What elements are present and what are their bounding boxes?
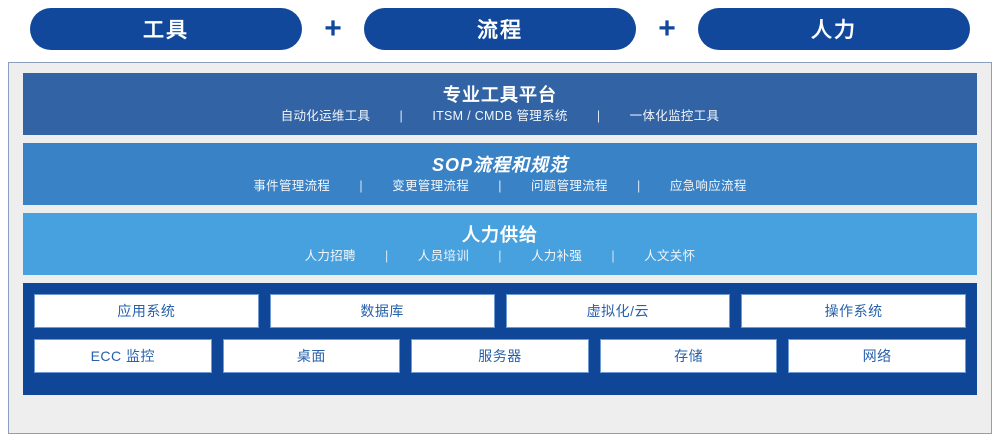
diagram-frame: 专业工具平台 自动化运维工具 | ITSM / CMDB 管理系统 | 一体化监… <box>8 62 992 434</box>
layer-item: 人力招聘 <box>305 249 356 264</box>
layer-item: 一体化监控工具 <box>630 109 720 124</box>
layer-item: 自动化运维工具 <box>281 109 371 124</box>
layer-title-manpower: 人力供给 <box>462 224 538 247</box>
item-separator: | <box>356 249 418 264</box>
chip-ecc-monitoring[interactable]: ECC 监控 <box>34 339 212 373</box>
pill-tools[interactable]: 工具 <box>30 8 302 50</box>
layer-item: 问题管理流程 <box>531 179 608 194</box>
layer-title-tools: 专业工具平台 <box>443 84 557 107</box>
item-separator: | <box>370 109 432 124</box>
item-separator: | <box>568 109 630 124</box>
layer-items-sop: 事件管理流程 | 变更管理流程 | 问题管理流程 | 应急响应流程 <box>253 179 746 194</box>
chip-network[interactable]: 网络 <box>788 339 966 373</box>
chip-database[interactable]: 数据库 <box>270 294 495 328</box>
top-pill-row: 工具 + 流程 + 人力 <box>0 0 1000 58</box>
pill-process[interactable]: 流程 <box>364 8 636 50</box>
item-separator: | <box>330 179 392 194</box>
layer-item: ITSM / CMDB 管理系统 <box>432 109 567 124</box>
chip-virtualization-cloud[interactable]: 虚拟化/云 <box>506 294 731 328</box>
layer-band-manpower: 人力供给 人力招聘 | 人员培训 | 人力补强 | 人文关怀 <box>23 213 977 275</box>
chip-server[interactable]: 服务器 <box>411 339 589 373</box>
chip-storage[interactable]: 存储 <box>600 339 778 373</box>
infrastructure-row-1: 应用系统 数据库 虚拟化/云 操作系统 <box>34 294 966 328</box>
layer-title-sop: SOP流程和规范 <box>432 154 568 177</box>
chip-application-system[interactable]: 应用系统 <box>34 294 259 328</box>
chip-desktop[interactable]: 桌面 <box>223 339 401 373</box>
layer-band-tools: 专业工具平台 自动化运维工具 | ITSM / CMDB 管理系统 | 一体化监… <box>23 73 977 135</box>
layer-item: 事件管理流程 <box>253 179 330 194</box>
layer-band-sop: SOP流程和规范 事件管理流程 | 变更管理流程 | 问题管理流程 | 应急响应… <box>23 143 977 205</box>
item-separator: | <box>469 179 531 194</box>
infrastructure-panel: 应用系统 数据库 虚拟化/云 操作系统 ECC 监控 桌面 服务器 存储 网络 <box>23 283 977 395</box>
item-separator: | <box>608 179 670 194</box>
layer-item: 人员培训 <box>418 249 469 264</box>
item-separator: | <box>582 249 644 264</box>
plus-icon-1: + <box>302 14 364 44</box>
layer-items-manpower: 人力招聘 | 人员培训 | 人力补强 | 人文关怀 <box>305 249 696 264</box>
layer-item: 人力补强 <box>531 249 582 264</box>
item-separator: | <box>469 249 531 264</box>
layer-item: 变更管理流程 <box>392 179 469 194</box>
layer-item: 人文关怀 <box>644 249 695 264</box>
layer-item: 应急响应流程 <box>670 179 747 194</box>
chip-operating-system[interactable]: 操作系统 <box>741 294 966 328</box>
pill-manpower[interactable]: 人力 <box>698 8 970 50</box>
plus-icon-2: + <box>636 14 698 44</box>
layer-items-tools: 自动化运维工具 | ITSM / CMDB 管理系统 | 一体化监控工具 <box>281 109 720 124</box>
infrastructure-row-2: ECC 监控 桌面 服务器 存储 网络 <box>34 339 966 373</box>
